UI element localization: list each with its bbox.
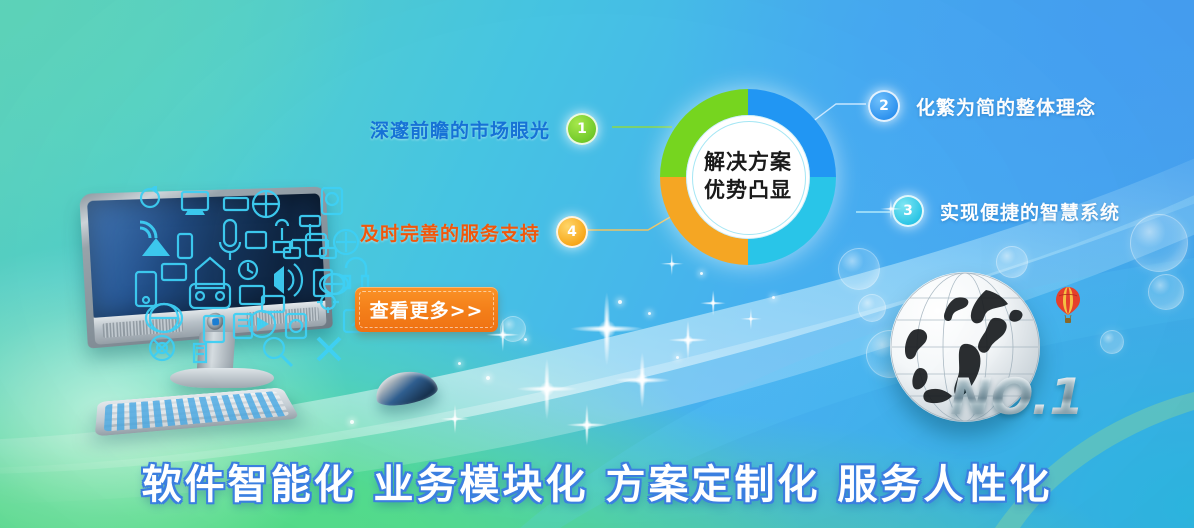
background-vignette — [0, 0, 1194, 528]
donut-center-line-2: 优势凸显 — [704, 177, 792, 205]
promo-banner: 解决方案 优势凸显 深邃前瞻的市场眼光 1 2 化繁为简的整体理念 3 实现便捷… — [0, 0, 1194, 528]
banner-tagline: 软件智能化 业务模块化 方案定制化 服务人性化 — [0, 452, 1194, 510]
rank-no1-text: NO.1 — [950, 368, 1083, 426]
donut-center-line-1: 解决方案 — [704, 149, 792, 177]
